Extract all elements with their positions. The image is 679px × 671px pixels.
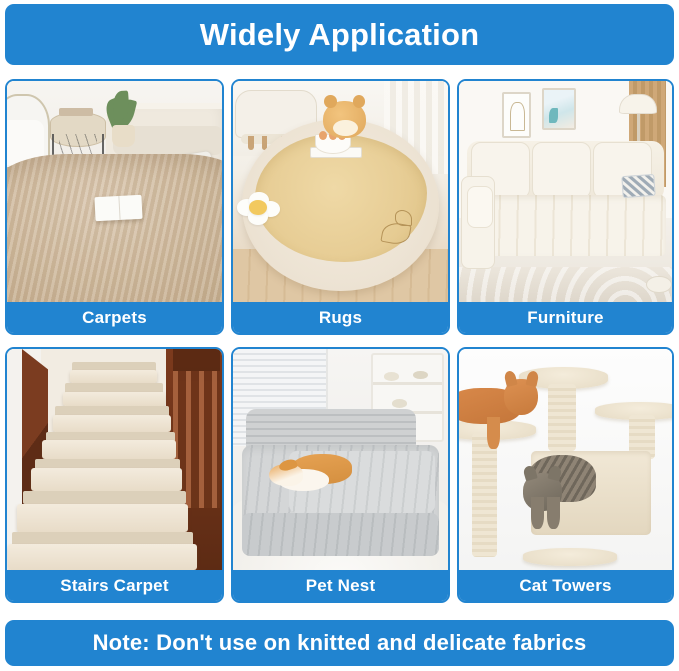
card-label-stairs-carpet: Stairs Carpet <box>7 570 222 601</box>
application-infographic: Widely Application <box>0 0 679 671</box>
teddy-bear <box>323 101 366 139</box>
base-platform <box>523 548 617 566</box>
photo-cat-towers <box>459 349 672 570</box>
floor-lamp-shade <box>619 94 657 114</box>
daisy-cushion <box>237 192 280 227</box>
header-banner: Widely Application <box>5 4 674 65</box>
sleeping-corgi <box>269 451 352 491</box>
card-rugs[interactable]: Rugs <box>231 79 450 335</box>
card-furniture[interactable]: Furniture <box>457 79 674 335</box>
photo-stairs-carpet <box>7 349 222 570</box>
card-label-pet-nest: Pet Nest <box>233 570 448 601</box>
card-stairs-carpet[interactable]: Stairs Carpet <box>5 347 224 603</box>
photo-pet-nest <box>233 349 448 570</box>
grid-row-2: Stairs Carpet <box>5 347 674 603</box>
open-book <box>95 195 144 222</box>
sofa <box>461 141 670 278</box>
orange-cat <box>459 376 540 433</box>
card-label-carpets: Carpets <box>7 302 222 333</box>
staircase <box>16 353 205 565</box>
shag-area-rug <box>7 154 222 302</box>
grid-row-1: Carpets <box>5 79 674 335</box>
card-label-cat-towers: Cat Towers <box>459 570 672 601</box>
bed-front-edge <box>242 513 440 555</box>
round-stool <box>646 276 672 294</box>
potted-plant-icon <box>106 94 140 147</box>
sofa-seat <box>465 195 665 255</box>
card-label-furniture: Furniture <box>459 302 672 333</box>
wall-art-right <box>542 88 576 130</box>
footer-note-banner: Note: Don't use on knitted and delicate … <box>5 620 674 666</box>
sofa-arm <box>461 176 494 269</box>
card-carpets[interactable]: Carpets <box>5 79 224 335</box>
top-post <box>548 384 576 450</box>
checkered-pillow <box>621 174 656 198</box>
photo-carpets <box>7 81 222 302</box>
footer-note-text: Note: Don't use on knitted and delicate … <box>93 630 587 656</box>
tabby-cat <box>523 455 604 530</box>
books-stack <box>59 108 93 117</box>
wall-art-left <box>502 92 532 138</box>
photo-rugs <box>233 81 448 302</box>
left-post <box>472 433 498 557</box>
card-cat-towers[interactable]: Cat Towers <box>457 347 674 603</box>
card-label-rugs: Rugs <box>233 302 448 333</box>
pet-bed <box>242 409 440 550</box>
tulip-motif-icon <box>379 209 418 249</box>
application-grid: Carpets <box>5 79 674 614</box>
card-pet-nest[interactable]: Pet Nest <box>231 347 450 603</box>
photo-furniture <box>459 81 672 302</box>
page-title: Widely Application <box>200 17 479 53</box>
